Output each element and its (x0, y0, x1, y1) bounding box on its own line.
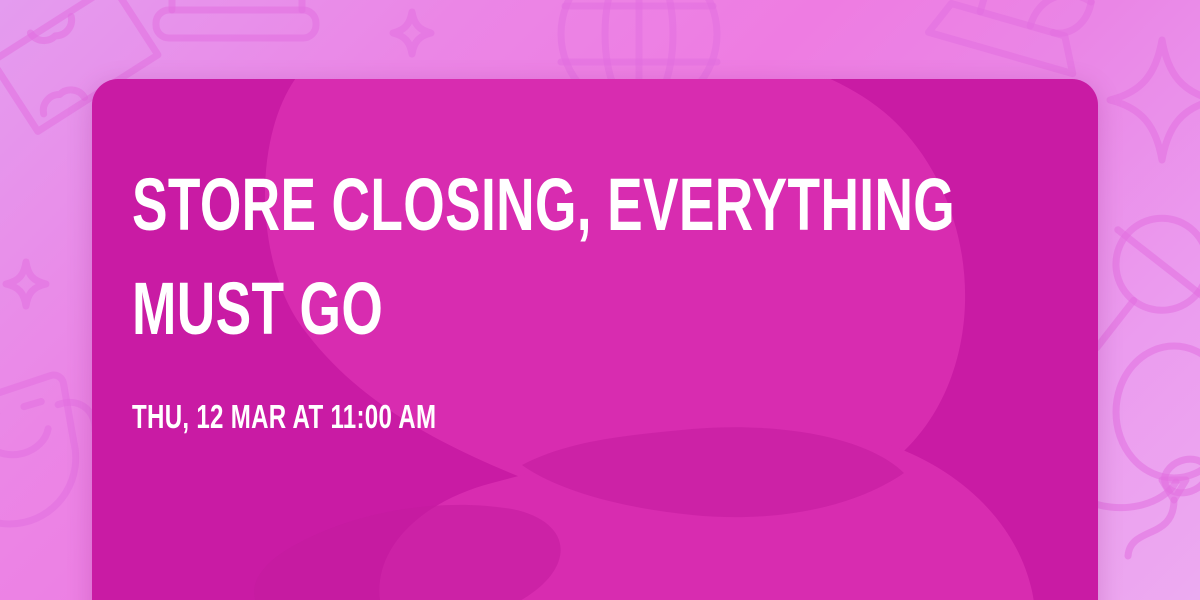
sparkle-icon (1110, 40, 1200, 160)
event-datetime: Thu, 12 Mar at 11:00 AM (132, 397, 1038, 437)
card-content: Store closing, everything must go Thu, 1… (132, 153, 1038, 437)
sparkle-icon (6, 262, 46, 306)
event-card[interactable]: Store closing, everything must go Thu, 1… (92, 79, 1098, 600)
confetti-popper-icon (929, 0, 1094, 74)
balloon-icon (1116, 346, 1200, 556)
event-title: Store closing, everything must go (132, 153, 1039, 361)
music-note-icon (1080, 453, 1200, 507)
cake-icon (156, 0, 316, 38)
star-icon (393, 12, 431, 54)
event-poster: Store closing, everything must go Thu, 1… (0, 0, 1200, 600)
